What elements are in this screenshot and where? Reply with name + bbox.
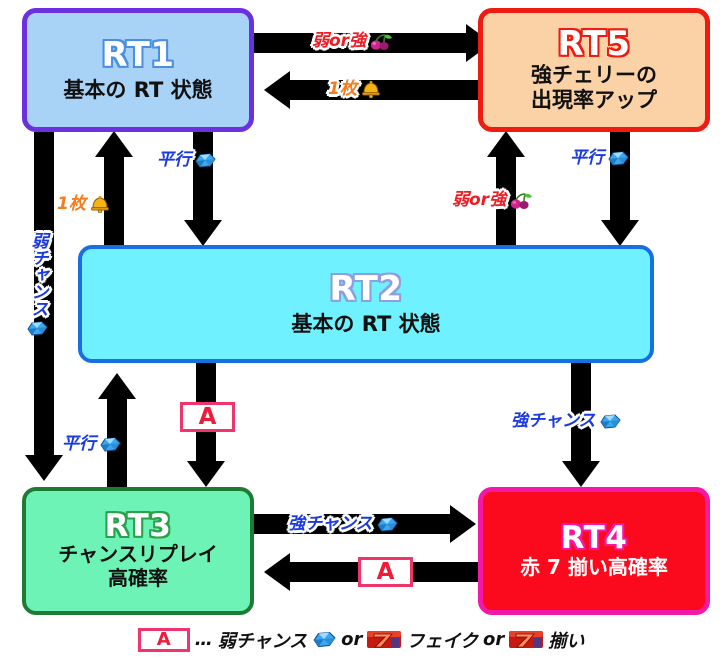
label-text-ichimai: 1枚 — [328, 81, 357, 98]
state-desc-rt3-line1: チャンスリプレイ — [58, 543, 217, 567]
state-code-rt3: RT3 — [105, 511, 172, 542]
legend-a-badge: A — [138, 628, 190, 652]
arrow-rt2-to-rt3-head — [187, 461, 225, 487]
label-text-heiko-3: 平行 — [62, 436, 96, 453]
arrow-rt3-to-rt2-head — [98, 373, 136, 399]
arrow-rt2-to-rt5-head — [487, 131, 525, 157]
label-text-heiko: 平行 — [157, 152, 191, 169]
arrow-rt5-to-rt2-head — [601, 220, 639, 246]
label-rt5-to-rt2: 平行 — [570, 150, 629, 167]
arrow-rt1-to-rt2-head — [184, 220, 222, 246]
label-rt1-to-rt5: 弱or強 — [312, 33, 393, 50]
legend-part1: 弱チャンス — [218, 627, 307, 653]
state-desc-rt3-line2: 高確率 — [108, 567, 168, 591]
bell-icon — [89, 195, 111, 213]
arrow-rt2-to-rt1-head — [95, 131, 133, 157]
label-text-jaku-or-kyo: 弱or強 — [312, 33, 366, 50]
arrow-rt1-to-rt3-head — [25, 455, 63, 481]
state-code-rt2: RT2 — [329, 272, 402, 306]
arrow-rt5-to-rt1-head — [264, 71, 290, 109]
state-desc-rt1: 基本の RT 状態 — [63, 78, 212, 103]
gem-icon — [99, 436, 121, 453]
a-badge-label: A — [199, 406, 217, 429]
label-text-kyo-chance: 強チャンス — [511, 413, 596, 430]
label-rt5-to-rt1: 1枚 — [328, 80, 382, 98]
legend-or-1: or — [341, 629, 362, 650]
gem-icon — [599, 413, 621, 430]
label-rt3-to-rt4: 強チャンス — [288, 516, 398, 533]
label-text-jaku-chance: 弱チャンス — [29, 232, 46, 317]
legend-part3: 揃い — [548, 627, 584, 653]
cherry-icon — [369, 33, 393, 50]
gem-icon — [376, 516, 398, 533]
label-text-ichimai-2: 1枚 — [57, 196, 86, 213]
legend: A … 弱チャンス or フェイク or 揃い — [0, 622, 722, 657]
arrow-rt1-to-rt2-bar — [193, 132, 213, 220]
state-desc-rt4: 赤 7 揃い高確率 — [520, 556, 668, 580]
state-code-rt4: RT4 — [561, 523, 628, 554]
arrow-rt3-to-rt4-head — [450, 505, 476, 543]
label-rt2-to-rt1: 1枚 — [57, 195, 111, 213]
state-box-rt5[interactable]: RT5 強チェリーの 出現率アップ — [478, 8, 710, 132]
state-box-rt3[interactable]: RT3 チャンスリプレイ 高確率 — [22, 487, 254, 615]
label-text-jaku-or-kyo-2: 弱or強 — [452, 192, 506, 209]
legend-a-badge-label: A — [157, 631, 171, 649]
label-text-kyo-chance-2: 強チャンス — [288, 516, 373, 533]
legend-part2: フェイク — [406, 627, 478, 653]
state-box-rt1[interactable]: RT1 基本の RT 状態 — [22, 8, 254, 132]
state-desc-rt5-line1: 強チェリーの — [531, 63, 657, 88]
state-code-rt1: RT1 — [101, 38, 174, 72]
legend-ellipsis: … — [195, 629, 213, 650]
label-rt3-to-rt2: 平行 — [62, 436, 121, 453]
legend-or-2: or — [483, 629, 504, 650]
state-code-rt5: RT5 — [557, 27, 630, 61]
gem-icon — [26, 320, 48, 337]
a-badge-label-2: A — [377, 561, 395, 584]
state-desc-rt2: 基本の RT 状態 — [291, 312, 440, 337]
gem-icon — [607, 150, 629, 167]
label-rt1-to-rt2: 平行 — [157, 152, 216, 169]
label-rt1-to-rt3: 弱チャンス — [26, 232, 48, 337]
arrow-rt4-to-rt3-head — [264, 553, 290, 591]
red-seven-icon — [367, 630, 401, 649]
arrow-rt2-to-rt4-head — [562, 461, 600, 487]
gem-icon — [194, 152, 216, 169]
cherry-icon — [509, 192, 533, 209]
label-rt2-to-rt4: 強チャンス — [511, 413, 621, 430]
label-rt2-to-rt5: 弱or強 — [452, 192, 533, 209]
rt-transition-diagram: RT1 基本の RT 状態 RT5 強チェリーの 出現率アップ RT2 基本の … — [0, 0, 722, 657]
bell-icon — [360, 80, 382, 98]
state-desc-rt5-line2: 出現率アップ — [531, 88, 657, 113]
a-badge-rt4-to-rt3: A — [358, 557, 413, 587]
label-text-heiko-2: 平行 — [570, 150, 604, 167]
state-box-rt4[interactable]: RT4 赤 7 揃い高確率 — [478, 487, 710, 615]
red-seven-icon — [509, 630, 543, 649]
state-box-rt2[interactable]: RT2 基本の RT 状態 — [78, 245, 654, 363]
arrow-rt5-to-rt1-bar — [290, 80, 478, 100]
arrow-rt5-to-rt2-bar — [610, 132, 630, 220]
gem-icon — [312, 630, 336, 649]
a-badge-rt2-to-rt3: A — [180, 402, 235, 432]
